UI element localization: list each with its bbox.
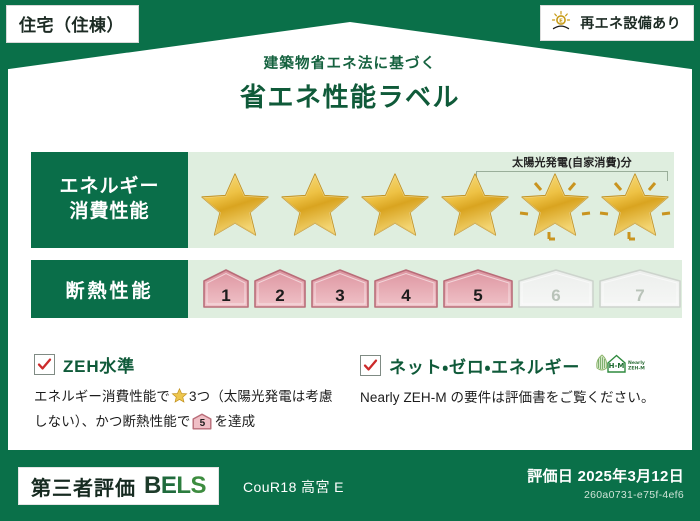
star-filled: [276, 168, 354, 242]
bels-certification-badge: 第三者評価 BELS: [18, 467, 219, 505]
bels-letter: S: [191, 472, 207, 499]
energy-performance-row: エネルギー 消費性能 太陽光発電(自家消費)分: [31, 152, 671, 248]
insulation-performance-label: 断熱性能: [31, 260, 188, 318]
star-icon: [436, 168, 514, 242]
insulation-grade-on: 3: [310, 268, 370, 310]
category-tab: 住宅（住棟）: [6, 5, 139, 43]
evaluation-date-value: 2025年3月12日: [578, 468, 684, 485]
insulation-grade-number: 1: [202, 286, 250, 306]
inline-house-number: 5: [192, 416, 212, 432]
insulation-grade-off: 6: [517, 268, 595, 310]
footer-right: 評価日 2025年3月12日 260a0731-e75f-4ef6: [527, 465, 684, 501]
zehm-logo-caption2: ZEH-M: [628, 365, 645, 371]
insulation-performance-row: 断熱性能 1: [31, 260, 671, 318]
star-solar: [516, 168, 594, 242]
evaluation-date-label: 評価日: [527, 468, 573, 485]
insulation-grade-off: 7: [598, 268, 682, 310]
insulation-performance-body: 1 2 3: [188, 260, 682, 318]
criterion-zeh-standard: ZEH水準 エネルギー消費性能で 3つ（太陽光発電は考慮しない）、かつ断熱性能で…: [34, 352, 344, 437]
footer: 第三者評価 BELS CouR18 高宮 E 評価日 2025年3月12日 26…: [0, 455, 700, 521]
star-filled: [436, 168, 514, 242]
star-solar: [596, 168, 674, 242]
building-name: CouR18 高宮 E: [243, 477, 344, 497]
insulation-grade-on: 5: [442, 268, 514, 310]
renewable-badge-label: 再エネ設備あり: [580, 13, 681, 33]
nearly-zehm-logo-icon: H-M Nearly ZEH-M: [594, 352, 648, 378]
page-title: 建築物省エネ法に基づく 省エネ性能ラベル: [0, 52, 700, 114]
nze-description: Nearly ZEH-M の要件は評価書をご覧ください。: [360, 387, 670, 409]
insulation-grade-number: 5: [442, 286, 514, 306]
insulation-grade-number: 4: [373, 286, 439, 306]
evaluation-date: 評価日 2025年3月12日: [527, 465, 684, 486]
insulation-grade-number: 6: [517, 286, 595, 306]
energy-performance-label: エネルギー 消費性能: [31, 152, 188, 248]
check-icon: [363, 358, 378, 373]
energy-label-line1: エネルギー: [59, 175, 159, 200]
zehm-logo-caption1: Nearly: [628, 360, 645, 366]
category-tab-label: 住宅（住棟）: [19, 16, 124, 35]
energy-label-line2: 消費性能: [69, 200, 149, 225]
star-icon: [276, 168, 354, 242]
star-icon: [596, 168, 674, 242]
page-title-main: 省エネ性能ラベル: [0, 77, 700, 114]
zeh-description: エネルギー消費性能で 3つ（太陽光発電は考慮しない）、かつ断熱性能で 5を達成: [34, 386, 344, 437]
star-icon: [356, 168, 434, 242]
nze-title: ネット・ゼロ・エネルギー: [389, 353, 580, 378]
criterion-nze-header: ネット・ゼロ・エネルギー H-M Nearly ZEH-M: [360, 352, 670, 378]
star-icon: [196, 168, 274, 242]
nze-checkbox[interactable]: [360, 355, 381, 376]
zeh-checkbox[interactable]: [34, 354, 55, 375]
page-title-sub: 建築物省エネ法に基づく: [0, 52, 700, 73]
zeh-title: ZEH水準: [63, 352, 135, 377]
bels-wordmark: BELS: [144, 472, 206, 500]
renewable-energy-badge: E 再エネ設備あり: [540, 5, 694, 41]
insulation-grade-number: 7: [598, 286, 682, 306]
insulation-grade-on: 1: [202, 268, 250, 310]
sun-icon: E: [549, 9, 573, 38]
zehm-logo-house-text: H-M: [609, 362, 625, 370]
inline-star-icon: [171, 387, 188, 411]
insulation-grade-number: 3: [310, 286, 370, 306]
insulation-grade-number: 2: [253, 286, 307, 306]
bels-letter: E: [161, 472, 177, 499]
star-filled: [196, 168, 274, 242]
star-filled: [356, 168, 434, 242]
bels-letter: B: [144, 472, 161, 499]
inline-house-badge: 5: [192, 413, 212, 437]
energy-star-rating: [196, 168, 674, 242]
criterion-net-zero-energy: ネット・ゼロ・エネルギー H-M Nearly ZEH-M Nearly ZEH…: [360, 352, 670, 409]
bels-letter: L: [176, 472, 190, 499]
svg-text:E: E: [559, 18, 563, 24]
star-icon: [516, 168, 594, 242]
check-icon: [37, 357, 52, 372]
record-id: 260a0731-e75f-4ef6: [527, 489, 684, 501]
insulation-grade-on: 2: [253, 268, 307, 310]
insulation-grade-scale: 1 2 3: [202, 268, 682, 310]
energy-performance-body: 太陽光発電(自家消費)分: [188, 152, 674, 248]
insulation-grade-on: 4: [373, 268, 439, 310]
third-party-eval-label: 第三者評価: [31, 472, 136, 501]
criterion-zeh-header: ZEH水準: [34, 352, 344, 377]
